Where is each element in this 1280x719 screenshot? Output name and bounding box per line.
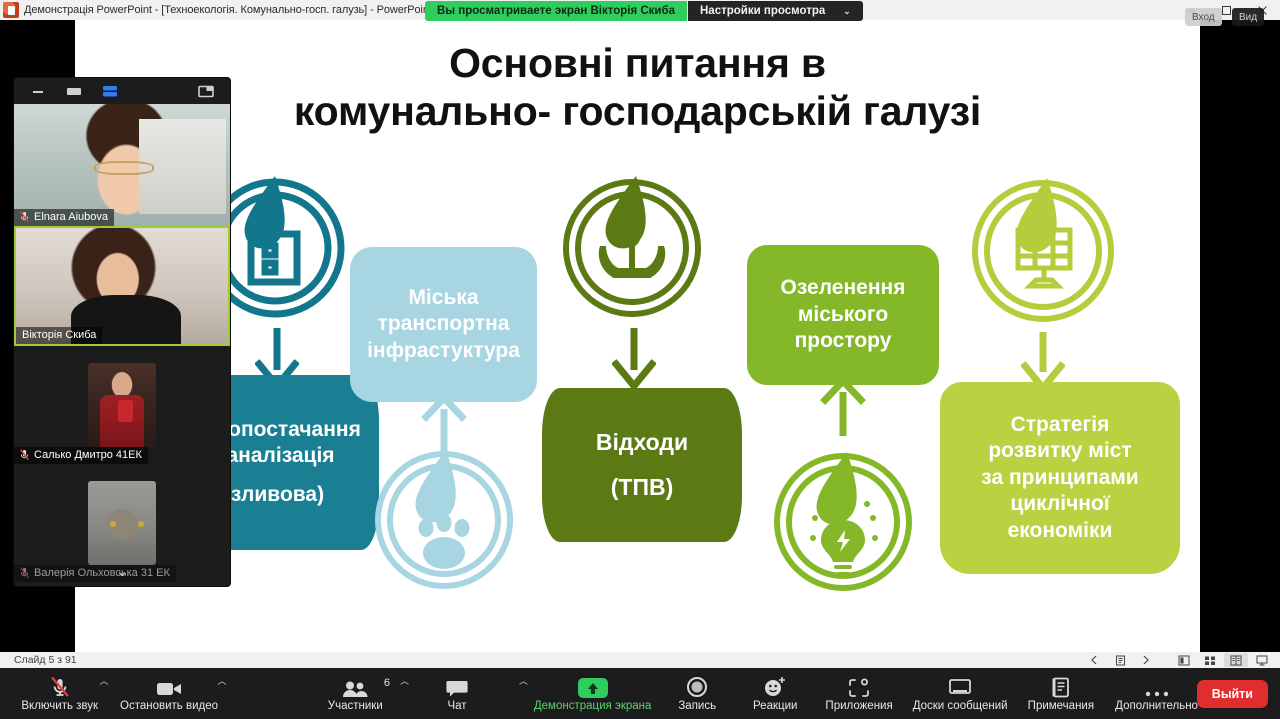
participant-name: Elnara Aiubova [34, 211, 108, 223]
card-transport-line2: транспортна [378, 311, 510, 337]
toolbar-label: Приложения [825, 700, 892, 712]
leave-label: Выйти [1212, 687, 1253, 701]
video-tile[interactable]: Вікторія Скиба [14, 226, 230, 346]
reading-view-button[interactable] [1224, 653, 1248, 667]
slide-title-line1: Основні питання в [75, 40, 1200, 88]
apps-icon [848, 676, 870, 698]
video-panel-toolbar [14, 78, 230, 104]
minimize-icon[interactable] [20, 80, 56, 102]
toolbar-label: Примечания [1028, 700, 1094, 712]
card-greening[interactable]: Озеленення міського простору [747, 245, 939, 385]
video-panel[interactable]: Elnara Aiubova Вікторія Скиба Салько Дми… [14, 78, 230, 586]
hands-plant-icon [552, 168, 712, 328]
toolbar-label: Демонстрация экрана [534, 700, 652, 712]
toolbar-label: Запись [678, 700, 716, 712]
participants-count: 6 [384, 677, 390, 689]
participants-icon [341, 676, 369, 698]
chevron-down-icon: ⌄ [843, 6, 851, 17]
card-strategy-line3: за принципами [981, 465, 1138, 491]
avatar-image [88, 363, 156, 447]
toolbar-reactions-button[interactable]: Реакции [747, 668, 803, 719]
prev-slide-button[interactable] [1082, 653, 1106, 667]
toolbar-label: Участники [328, 700, 383, 712]
card-transport[interactable]: Міська транспортна інфрастуктура [350, 247, 537, 402]
card-strategy-line2: розвитку міст [988, 438, 1131, 464]
toolbar-label: Доски сообщений [913, 700, 1008, 712]
powerpoint-icon [3, 2, 19, 18]
participant-name: Салько Дмитро 41ЕК [34, 449, 142, 461]
slide-counter: Слайд 5 з 91 [14, 654, 77, 666]
bulb-energy-icon [763, 442, 923, 602]
normal-view-button[interactable] [1172, 653, 1196, 667]
card-water-line3: (зливова) [224, 482, 324, 508]
toolbar-chat-button[interactable]: Чат [429, 668, 485, 719]
chevron-up-icon: ︿ [216, 674, 229, 701]
share-status-banner: Вы просматриваете экран Вікторія Скиба [425, 1, 687, 21]
tooltip-view: Вид [1232, 8, 1264, 26]
toolbar-mute-button[interactable]: Включить звук [22, 668, 97, 719]
toolbar-record-button[interactable]: Запись [669, 668, 725, 719]
card-strategy-line5: економіки [1008, 518, 1113, 544]
card-waste-line2: (ТПВ) [611, 473, 674, 502]
chat-icon [446, 676, 468, 698]
view-options-button[interactable]: Настройки просмотра ⌄ [688, 1, 863, 21]
slideshow-button[interactable] [1250, 653, 1274, 667]
card-water-line2: Каналізація [213, 443, 334, 469]
share-screen-icon [578, 676, 608, 698]
mute-options-caret[interactable]: ︿ [97, 668, 110, 719]
mic-muted-icon [20, 211, 29, 223]
toolbar-notes-button[interactable]: Примечания [1027, 668, 1094, 719]
toolbar-participants-button[interactable]: 6 Участники [327, 668, 384, 719]
participants-options-caret[interactable]: ︿ [398, 668, 411, 719]
status-bar-controls [1082, 653, 1274, 667]
toolbar-share-screen-button[interactable]: Демонстрация экрана [538, 668, 647, 719]
tooltip-view-label: Вид [1239, 12, 1257, 23]
chevron-up-icon: ︿ [97, 674, 110, 701]
card-waste[interactable]: Відходи (ТПВ) [542, 388, 742, 542]
arrow-up-greening [820, 378, 866, 440]
participant-name-badge: Вікторія Скиба [16, 327, 102, 344]
toolbar-label: Реакции [753, 700, 797, 712]
leave-meeting-button[interactable]: Выйти [1197, 680, 1268, 708]
view-options-label: Настройки просмотра [700, 5, 825, 17]
toolbar-whiteboard-button[interactable]: Доски сообщений [915, 668, 1006, 719]
notes-button[interactable] [1108, 653, 1132, 667]
toolbar-label: Дополнительно [1115, 700, 1198, 712]
avatar [88, 481, 156, 565]
next-slide-button[interactable] [1134, 653, 1158, 667]
single-view-icon[interactable] [56, 80, 92, 102]
card-waste-line1: Відходи [596, 428, 688, 457]
video-icon [156, 676, 182, 698]
solar-panel-icon [960, 168, 1126, 334]
mic-muted-icon [49, 676, 71, 698]
card-strategy[interactable]: Стратегія розвитку міст за принципами ци… [940, 382, 1180, 574]
infographic: Водопостачання Каналізація (зливова) Міс… [75, 150, 1200, 620]
chevron-up-icon: ︿ [517, 674, 530, 701]
card-greening-line1: Озеленення [781, 275, 906, 301]
chevron-down-icon[interactable]: ⌄ [14, 562, 230, 580]
card-strategy-line4: циклічної [1010, 491, 1109, 517]
gallery-view-icon[interactable] [92, 80, 128, 102]
slide-title-line2: комунально- господарській галузі [75, 88, 1200, 136]
toolbar-apps-button[interactable]: Приложения [825, 668, 893, 719]
chevron-up-icon: ︿ [398, 674, 411, 701]
participant-video [14, 104, 230, 226]
zoom-toolbar: Включить звук ︿ Остановить видео ︿ [0, 668, 1280, 719]
toolbar-more-button[interactable]: Дополнительно [1116, 668, 1196, 719]
paw-drop-icon [364, 440, 524, 600]
window-title: Демонстрація PowerPoint - [Техноекологія… [24, 4, 432, 16]
screen-root: Основні питання в комунально- господарсь… [0, 0, 1280, 719]
mic-muted-icon [20, 449, 29, 461]
card-greening-line3: простору [795, 328, 892, 354]
card-transport-line3: інфрастуктура [367, 338, 520, 364]
card-transport-line1: Міська [408, 285, 478, 311]
tooltip-login: Вход [1185, 8, 1222, 26]
share-options-caret[interactable]: ︿ [517, 668, 530, 719]
slide-sorter-button[interactable] [1198, 653, 1222, 667]
notes-icon [1051, 676, 1071, 698]
toolbar-video-button[interactable]: Остановить видео [122, 668, 215, 719]
participant-name-badge: Салько Дмитро 41ЕК [14, 447, 148, 464]
participant-name-badge: Elnara Aiubova [14, 209, 114, 226]
popout-icon[interactable] [188, 80, 224, 102]
toolbar-label: Чат [447, 700, 466, 712]
video-tile[interactable]: Салько Дмитро 41ЕК [14, 346, 230, 464]
card-strategy-line1: Стратегія [1011, 412, 1110, 438]
arrow-down-waste [612, 326, 656, 390]
powerpoint-status-bar: Слайд 5 з 91 [0, 652, 1280, 668]
toolbar-spacer [128, 80, 188, 102]
participant-name: Вікторія Скиба [22, 329, 96, 341]
card-greening-line2: міського [798, 302, 888, 328]
tooltip-login-label: Вход [1192, 12, 1215, 23]
record-icon [686, 676, 708, 698]
reactions-icon [763, 676, 787, 698]
avatar-image [88, 481, 156, 565]
slide-title: Основні питання в комунально- господарсь… [75, 40, 1200, 136]
toolbar-label: Остановить видео [120, 700, 218, 712]
whiteboard-icon [948, 676, 972, 698]
avatar [88, 363, 156, 447]
share-status-text: Вы просматриваете экран Вікторія Скиба [437, 5, 675, 17]
slide-canvas[interactable]: Основні питання в комунально- господарсь… [75, 20, 1200, 652]
more-dots-icon [1144, 676, 1170, 698]
video-tile[interactable]: Elnara Aiubova [14, 104, 230, 226]
toolbar-label: Включить звук [21, 700, 98, 712]
